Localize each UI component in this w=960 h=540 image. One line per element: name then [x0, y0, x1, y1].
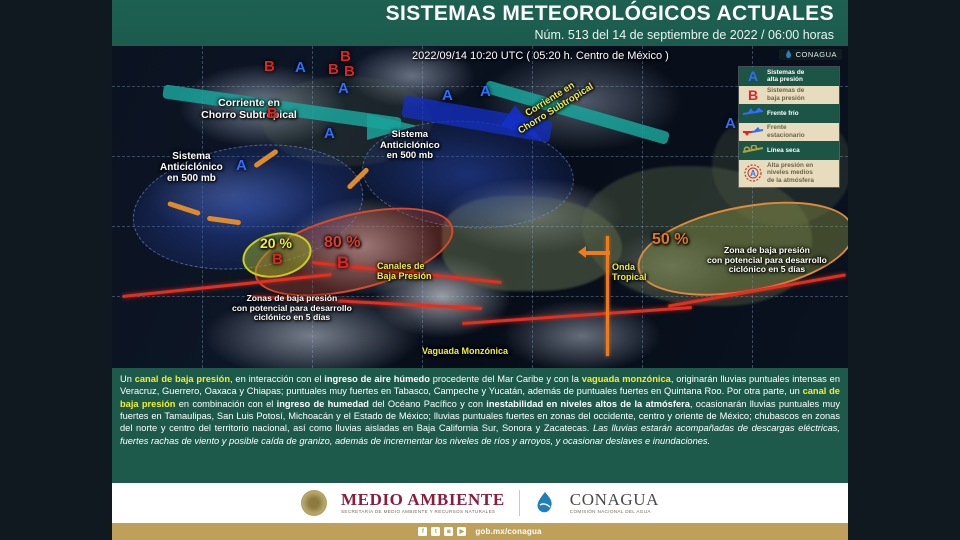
facebook-icon[interactable]: f: [418, 527, 427, 536]
conagua-watermark-text: CONAGUA: [796, 50, 837, 59]
legend-label: Frente frío: [767, 110, 799, 117]
forecast-text: Un canal de baja presión, en interacción…: [120, 373, 840, 447]
legend-row-mid-level-high[interactable]: A Alta presión en niveles medios de la a…: [739, 160, 839, 187]
letter-b-icon: B: [742, 87, 764, 103]
pressure-symbol-a: A: [338, 81, 349, 96]
anticyclone-label-left: Sistema Anticiclónico en 500 mb: [160, 151, 223, 185]
tropical-wave-arrow: [582, 251, 610, 255]
mid-level-high-icon: A: [742, 164, 764, 182]
website-url[interactable]: gob.mx/conagua: [475, 527, 541, 536]
pressure-symbol-b: B: [328, 62, 339, 77]
satellite-map[interactable]: 20 % B 80 % B 50 % Corriente en Chorro S…: [112, 46, 848, 368]
vaguada-monzonica-label: Vaguada Monzónica: [422, 346, 508, 356]
cold-front-icon: [742, 108, 764, 118]
forecast-description-panel: Un canal de baja presión, en interacción…: [112, 368, 848, 483]
social-bar: f t ◙ ▶ gob.mx/conagua: [112, 523, 848, 540]
conagua-subtitle: COMISIÓN NACIONAL DEL AGUA: [570, 510, 659, 515]
pressure-symbol-b: B: [344, 64, 355, 79]
conagua-watermark: CONAGUA: [779, 49, 842, 60]
bulletin-number-date: Núm. 513 del 14 de septiembre de 2022 / …: [534, 28, 834, 42]
pct-20-label: 20 %: [260, 236, 292, 252]
stationary-front-icon: [742, 127, 764, 137]
right-gutter: [848, 0, 960, 540]
legend-label: Sistemas de baja presión: [767, 87, 805, 102]
instagram-icon[interactable]: ◙: [444, 527, 453, 536]
map-timestamp: 2022/09/14 10:20 UTC ( 05:20 h. Centro d…: [412, 50, 669, 62]
logo-divider: [519, 490, 520, 516]
legend-label: Frente estacionario: [767, 124, 805, 139]
gridline-horizontal: [112, 296, 848, 297]
cyclone-zone-label-right: Zona de baja presión con potencial para …: [707, 246, 827, 275]
medio-ambiente-subtitle: SECRETARÍA DE MEDIO AMBIENTE Y RECURSOS …: [341, 510, 505, 515]
conagua-wave-icon: [534, 491, 556, 515]
legend-row-stationary-front[interactable]: Frente estacionario: [739, 123, 839, 142]
legend-row-dry-line[interactable]: Línea seca: [739, 141, 839, 160]
map-legend: A Sistemas de alta presión B Sistemas de…: [738, 66, 840, 188]
pressure-symbol-b: B: [340, 49, 351, 64]
legend-label: Sistemas de alta presión: [767, 69, 804, 84]
pct-50-label: 50 %: [652, 231, 688, 249]
legend-row-high-pressure[interactable]: A Sistemas de alta presión: [739, 67, 839, 86]
pressure-symbol-b: B: [267, 106, 278, 121]
pct-80-label: 80 %: [324, 234, 360, 252]
legend-row-cold-front[interactable]: Frente frío: [739, 104, 839, 123]
legend-label: Línea seca: [767, 147, 800, 154]
pressure-symbol-b: B: [264, 59, 275, 74]
conagua-title: CONAGUA: [570, 491, 659, 508]
canales-baja-presion-label: Canales de Baja Presión: [377, 261, 432, 281]
pressure-symbol-a: A: [480, 84, 491, 99]
medio-ambiente-logo: MEDIO AMBIENTE SECRETARÍA DE MEDIO AMBIE…: [341, 491, 505, 515]
pressure-symbol-a: A: [324, 126, 335, 141]
legend-row-low-pressure[interactable]: B Sistemas de baja presión: [739, 86, 839, 105]
gridline-vertical: [642, 46, 643, 368]
pressure-symbol-b: B: [272, 252, 283, 267]
jet-stream-label-left: Corriente en Chorro Subtropical: [174, 98, 324, 122]
svg-text:A: A: [750, 169, 756, 178]
footer-logos: MEDIO AMBIENTE SECRETARÍA DE MEDIO AMBIE…: [112, 483, 848, 523]
onda-tropical-label: Onda Tropical: [612, 262, 647, 282]
legend-label: Alta presión en niveles medios de la atm…: [767, 162, 814, 184]
left-gutter: [0, 0, 112, 540]
pressure-symbol-a: A: [725, 116, 736, 131]
letter-a-icon: A: [742, 68, 764, 84]
weather-bulletin-page: SISTEMAS METEOROLÓGICOS ACTUALES Núm. 51…: [0, 0, 960, 540]
youtube-icon[interactable]: ▶: [457, 527, 466, 536]
water-drop-icon: [784, 50, 793, 59]
header-bar: SISTEMAS METEOROLÓGICOS ACTUALES Núm. 51…: [112, 0, 848, 46]
pressure-symbol-a: A: [442, 88, 453, 103]
twitter-icon[interactable]: t: [431, 527, 440, 536]
medio-ambiente-title: MEDIO AMBIENTE: [341, 491, 505, 508]
tropical-wave-arrowhead: [578, 246, 586, 258]
pressure-symbol-b: B: [337, 254, 349, 271]
cyclone-zone-label-left: Zonas de baja presión con potencial para…: [232, 294, 352, 323]
dry-line-icon: [742, 145, 764, 155]
mexican-eagle-seal-icon: [301, 490, 327, 516]
anticyclone-label-center: Sistema Anticiclónico en 500 mb: [380, 130, 440, 162]
page-title: SISTEMAS METEOROLÓGICOS ACTUALES: [386, 2, 834, 26]
pressure-symbol-a: A: [236, 158, 247, 173]
conagua-logo: CONAGUA COMISIÓN NACIONAL DEL AGUA: [570, 491, 659, 515]
pressure-symbol-a: A: [295, 60, 306, 75]
